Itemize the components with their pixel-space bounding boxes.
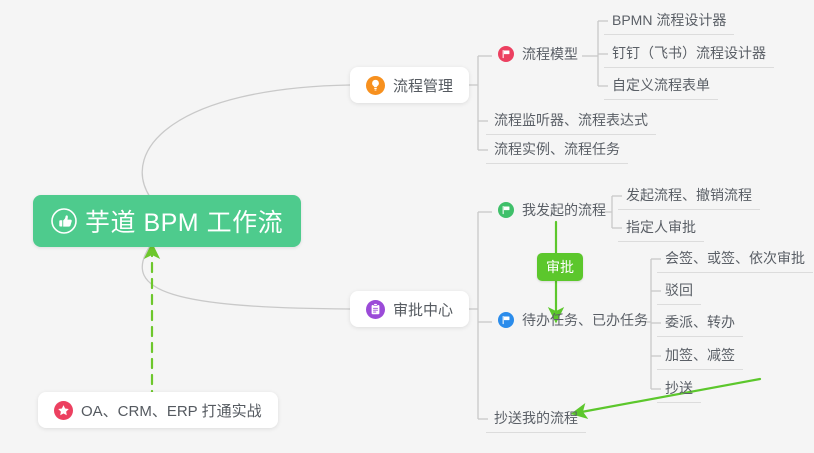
branch-node-process-management[interactable]: 流程管理 (350, 67, 469, 103)
link-root-to-approval-center (142, 246, 350, 309)
flag-icon (498, 202, 514, 218)
node-carbon-copy[interactable]: 抄送 (657, 377, 701, 403)
node-label-todo-done-tasks: 待办任务、已办任务 (522, 310, 648, 330)
bottom-note-label: OA、CRM、ERP 打通实战 (81, 400, 262, 421)
node-my-initiated[interactable]: 我发起的流程 (490, 199, 614, 225)
clipboard-icon (366, 300, 385, 319)
node-label-instance-task: 流程实例、流程任务 (494, 139, 620, 159)
node-label-listener-expression: 流程监听器、流程表达式 (494, 110, 648, 130)
link-root-to-process-management (142, 85, 350, 197)
node-label-start-cancel-process: 发起流程、撤销流程 (626, 185, 752, 205)
node-label-delegate-transfer: 委派、转办 (665, 312, 735, 332)
star-icon (54, 401, 73, 420)
root-label: 芋道 BPM 工作流 (85, 203, 283, 239)
node-todo-done-tasks[interactable]: 待办任务、已办任务 (490, 309, 656, 335)
bottom-note-node[interactable]: OA、CRM、ERP 打通实战 (38, 392, 278, 428)
approval-annotation-badge: 审批 (537, 253, 583, 281)
node-dingtalk-feishu-designer[interactable]: 钉钉（飞书）流程设计器 (604, 42, 774, 68)
node-label-carbon-copy: 抄送 (665, 378, 693, 398)
mindmap-canvas: 芋道 BPM 工作流 流程管理 流程模型 BPMN 流程设计器 钉钉（飞书）流 (0, 0, 814, 453)
branch-node-approval-center[interactable]: 审批中心 (350, 291, 469, 327)
node-label-reject: 驳回 (665, 280, 693, 300)
root-node[interactable]: 芋道 BPM 工作流 (33, 195, 301, 247)
node-label-countersign-or-sequential: 会签、或签、依次审批 (665, 248, 805, 268)
node-label-process-model: 流程模型 (522, 44, 578, 64)
flag-icon (498, 312, 514, 328)
flag-icon (498, 46, 514, 62)
node-bpmn-designer[interactable]: BPMN 流程设计器 (604, 9, 734, 35)
node-countersign-or-sequential[interactable]: 会签、或签、依次审批 (657, 247, 813, 273)
node-process-model[interactable]: 流程模型 (490, 43, 586, 69)
node-label-dingtalk-feishu-designer: 钉钉（飞书）流程设计器 (612, 43, 766, 63)
node-listener-expression[interactable]: 流程监听器、流程表达式 (486, 109, 656, 135)
node-label-cc-to-me: 抄送我的流程 (494, 408, 578, 428)
node-label-bpmn-designer: BPMN 流程设计器 (612, 10, 726, 30)
node-instance-task[interactable]: 流程实例、流程任务 (486, 138, 628, 164)
lightbulb-icon (366, 76, 385, 95)
node-label-add-remove-sign: 加签、减签 (665, 345, 735, 365)
branch-label-process-management: 流程管理 (393, 75, 453, 96)
node-assignee-approval[interactable]: 指定人审批 (618, 216, 704, 242)
node-label-my-initiated: 我发起的流程 (522, 200, 606, 220)
node-reject[interactable]: 驳回 (657, 279, 701, 305)
branch-label-approval-center: 审批中心 (393, 299, 453, 320)
node-start-cancel-process[interactable]: 发起流程、撤销流程 (618, 184, 760, 210)
node-cc-to-me[interactable]: 抄送我的流程 (486, 407, 586, 433)
approval-annotation-label: 审批 (546, 257, 574, 277)
node-label-assignee-approval: 指定人审批 (626, 217, 696, 237)
node-label-custom-process-form: 自定义流程表单 (612, 75, 710, 95)
thumbs-up-icon (51, 208, 77, 234)
node-add-remove-sign[interactable]: 加签、减签 (657, 344, 743, 370)
node-custom-process-form[interactable]: 自定义流程表单 (604, 74, 718, 100)
node-delegate-transfer[interactable]: 委派、转办 (657, 311, 743, 337)
